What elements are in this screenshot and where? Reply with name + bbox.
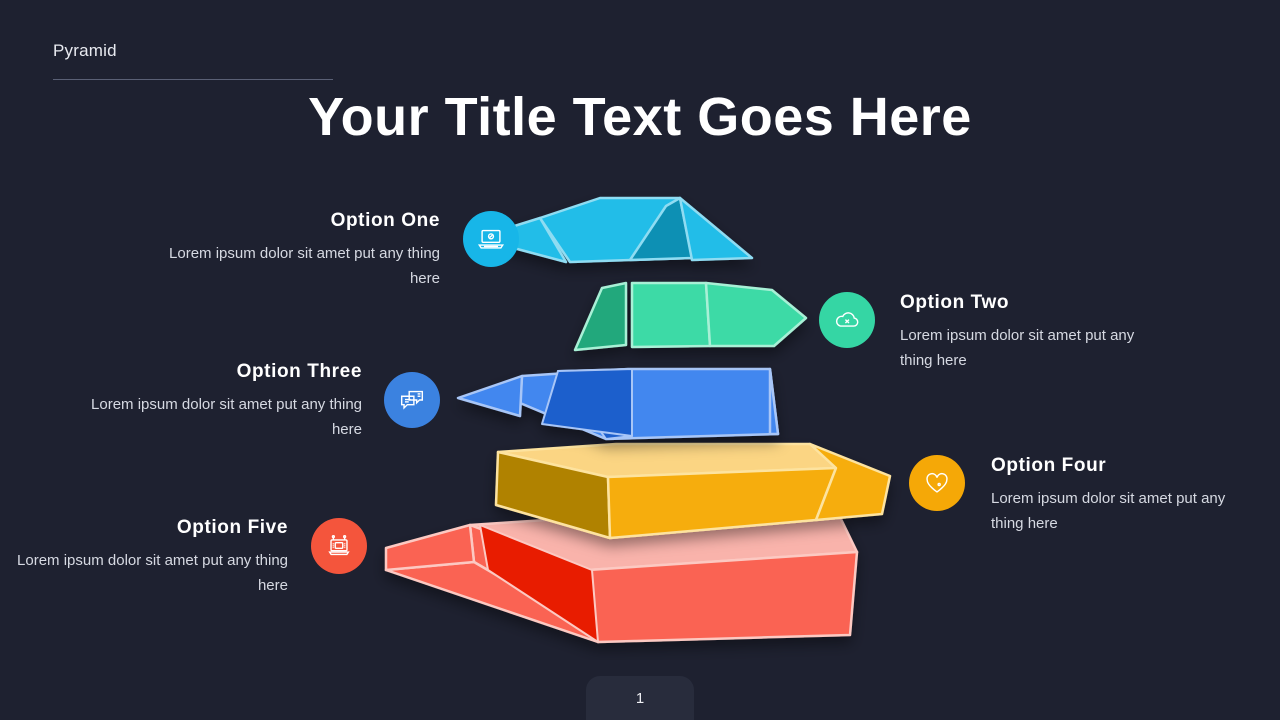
cloud-icon — [832, 305, 862, 335]
option-five-title: Option Five — [0, 517, 288, 539]
option-two-description: Lorem ipsum dolor sit amet put any thing… — [900, 323, 1160, 373]
laptop-icon — [476, 224, 506, 254]
pyramid-level-two[interactable] — [575, 283, 806, 350]
device-icon — [324, 531, 354, 561]
pyramid-diagram — [370, 180, 910, 660]
heart-icon — [922, 468, 952, 498]
option-five-badge[interactable] — [311, 518, 367, 574]
option-one-badge[interactable] — [463, 211, 519, 267]
option-four-description: Lorem ipsum dolor sit amet put any thing… — [991, 486, 1251, 536]
option-three-title: Option Three — [60, 361, 362, 383]
option-block-five: Option Five Lorem ipsum dolor sit amet p… — [0, 517, 288, 598]
level-two-right-face — [706, 283, 806, 346]
option-five-description: Lorem ipsum dolor sit amet put any thing… — [0, 548, 288, 598]
option-four-title: Option Four — [991, 455, 1251, 477]
page-number-tab[interactable]: 1 — [586, 676, 694, 720]
option-block-two: Option Two Lorem ipsum dolor sit amet pu… — [900, 292, 1160, 373]
option-two-title: Option Two — [900, 292, 1160, 314]
page-number-label: 1 — [636, 690, 644, 707]
chat-icon — [397, 385, 427, 415]
option-three-badge[interactable] — [384, 372, 440, 428]
kicker-divider — [53, 79, 333, 80]
option-block-four: Option Four Lorem ipsum dolor sit amet p… — [991, 455, 1251, 536]
level-three-right-wedge — [770, 369, 778, 434]
level-three-dark-wedge — [542, 369, 632, 436]
level-two-center-face — [632, 283, 710, 347]
option-one-description: Lorem ipsum dolor sit amet put any thing… — [140, 241, 440, 291]
level-three-tip — [458, 376, 522, 416]
option-three-description: Lorem ipsum dolor sit amet put any thing… — [60, 392, 362, 442]
level-five-tip — [386, 525, 474, 570]
level-one-right-face — [680, 198, 752, 260]
option-two-badge[interactable] — [819, 292, 875, 348]
option-block-three: Option Three Lorem ipsum dolor sit amet … — [60, 361, 362, 442]
option-one-title: Option One — [140, 210, 440, 232]
option-block-one: Option One Lorem ipsum dolor sit amet pu… — [140, 210, 440, 291]
slide-canvas: Pyramid Your Title Text Goes Here — [0, 0, 1280, 720]
option-four-badge[interactable] — [909, 455, 965, 511]
pyramid-level-three[interactable] — [458, 369, 778, 439]
slide-kicker: Pyramid — [53, 41, 117, 61]
level-two-left-face — [575, 283, 626, 350]
page-title: Your Title Text Goes Here — [0, 88, 1280, 146]
